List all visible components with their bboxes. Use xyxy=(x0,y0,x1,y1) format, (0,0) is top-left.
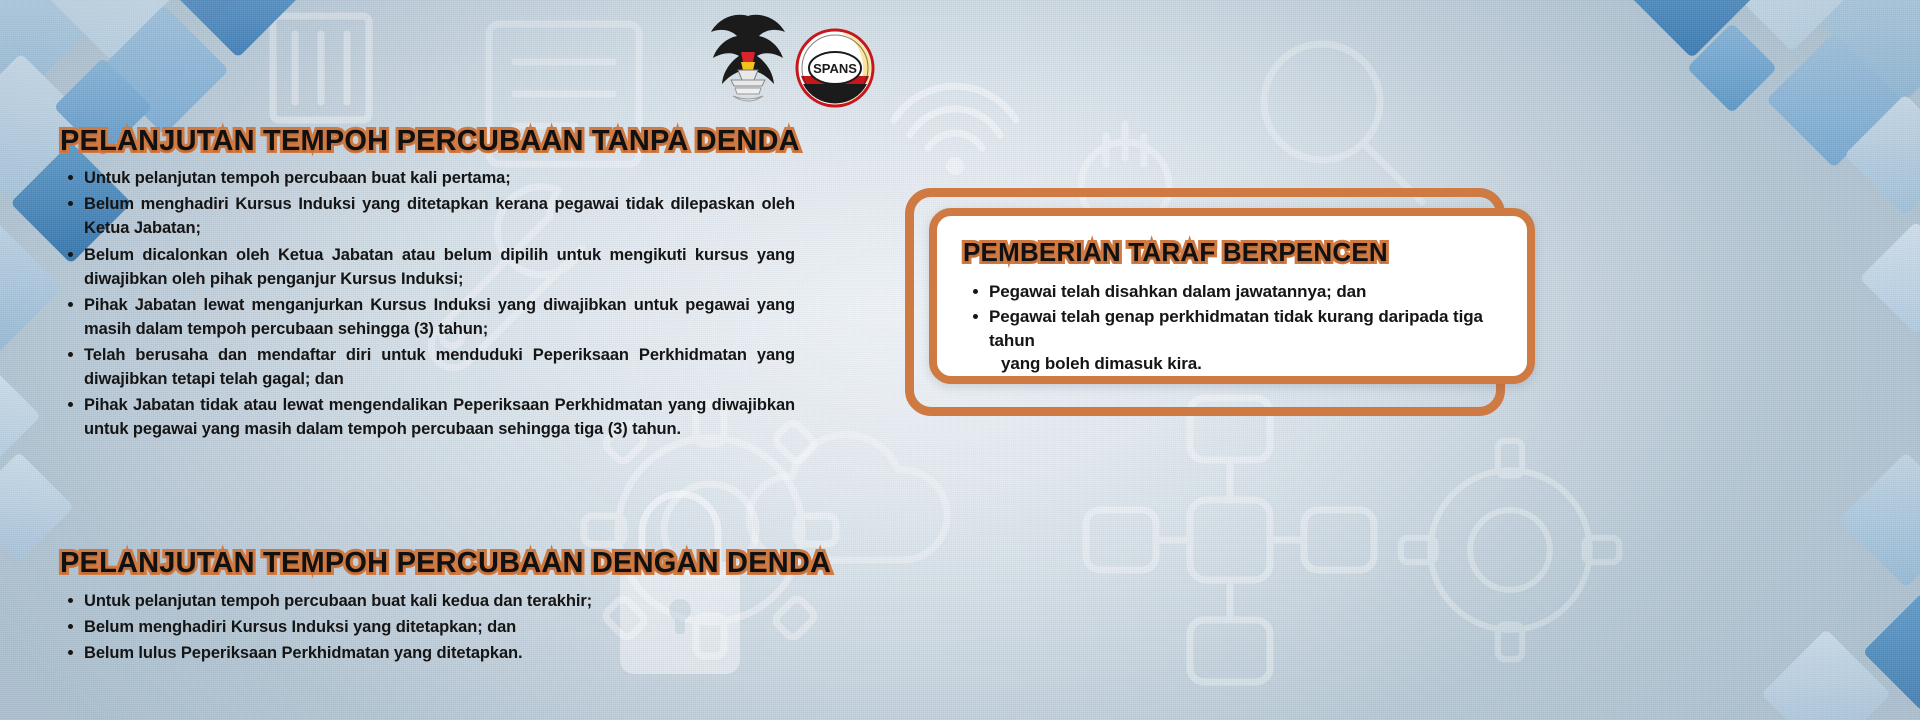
list-item: Belum dicalonkan oleh Ketua Jabatan atau… xyxy=(60,243,795,291)
list-item: Pihak Jabatan tidak atau lewat mengendal… xyxy=(60,393,795,441)
sarawak-coat-of-arms xyxy=(705,6,791,110)
infographic-banner: SPANS PELANJUTAN TEMPOH PERCUBAAN TANPA … xyxy=(0,0,1920,720)
section-heading-wrap: PELANJUTAN TEMPOH PERCUBAAN TANPA DENDA xyxy=(60,126,795,157)
bullet-list-dengan-denda: Untuk pelanjutan tempoh percubaan buat k… xyxy=(60,589,840,665)
list-item: Telah berusaha dan mendaftar diri untuk … xyxy=(60,343,795,391)
list-item: Untuk pelanjutan tempoh percubaan buat k… xyxy=(60,166,795,190)
server-rack-icon xyxy=(255,6,385,126)
wifi-signal-icon xyxy=(880,40,1030,190)
decor-diamond xyxy=(0,452,74,562)
list-item-line-2: yang boleh dimasuk kira. xyxy=(989,352,1501,376)
svg-text:SPANS: SPANS xyxy=(813,61,857,76)
decor-diamond xyxy=(1859,221,1920,334)
card-heading-wrap: PEMBERIAN TARAF BERPENCEN xyxy=(963,238,1501,266)
gear-icon xyxy=(1380,420,1640,680)
logo-group: SPANS xyxy=(690,6,890,114)
bullet-list-tanpa-denda: Untuk pelanjutan tempoh percubaan buat k… xyxy=(60,166,795,441)
network-node-icon xyxy=(1080,390,1380,690)
spans-logo: SPANS xyxy=(795,28,875,108)
list-item-line-1: Pegawai telah genap perkhidmatan tidak k… xyxy=(989,307,1483,350)
card-taraf-berpencen: PEMBERIAN TARAF BERPENCEN Pegawai telah … xyxy=(929,208,1535,384)
list-item: Pegawai telah genap perkhidmatan tidak k… xyxy=(963,305,1501,376)
list-item: Belum lulus Peperiksaan Perkhidmatan yan… xyxy=(60,641,840,665)
list-item: Pegawai telah disahkan dalam jawatannya;… xyxy=(963,280,1501,304)
bullet-list-taraf-berpencen: Pegawai telah disahkan dalam jawatannya;… xyxy=(963,280,1501,376)
card-title: PEMBERIAN TARAF BERPENCEN xyxy=(963,238,1388,266)
section-title: PELANJUTAN TEMPOH PERCUBAAN DENGAN DENDA xyxy=(60,548,831,579)
list-item: Pihak Jabatan lewat menganjurkan Kursus … xyxy=(60,293,795,341)
section-tanpa-denda: PELANJUTAN TEMPOH PERCUBAAN TANPA DENDA … xyxy=(60,126,795,443)
list-item: Untuk pelanjutan tempoh percubaan buat k… xyxy=(60,589,840,613)
page-title: PELANJUTAN TEMPOH PERCUBAAN TANPA DENDA xyxy=(60,126,800,157)
taraf-berpencen-panel: PEMBERIAN TARAF BERPENCEN Pegawai telah … xyxy=(905,188,1535,418)
section-dengan-denda: PELANJUTAN TEMPOH PERCUBAAN DENGAN DENDA… xyxy=(60,548,840,668)
list-item: Belum menghadiri Kursus Induksi yang dit… xyxy=(60,615,840,639)
section-heading-wrap: PELANJUTAN TEMPOH PERCUBAAN DENGAN DENDA xyxy=(60,548,840,579)
decor-diamond xyxy=(1838,452,1920,588)
list-item: Belum menghadiri Kursus Induksi yang dit… xyxy=(60,192,795,240)
